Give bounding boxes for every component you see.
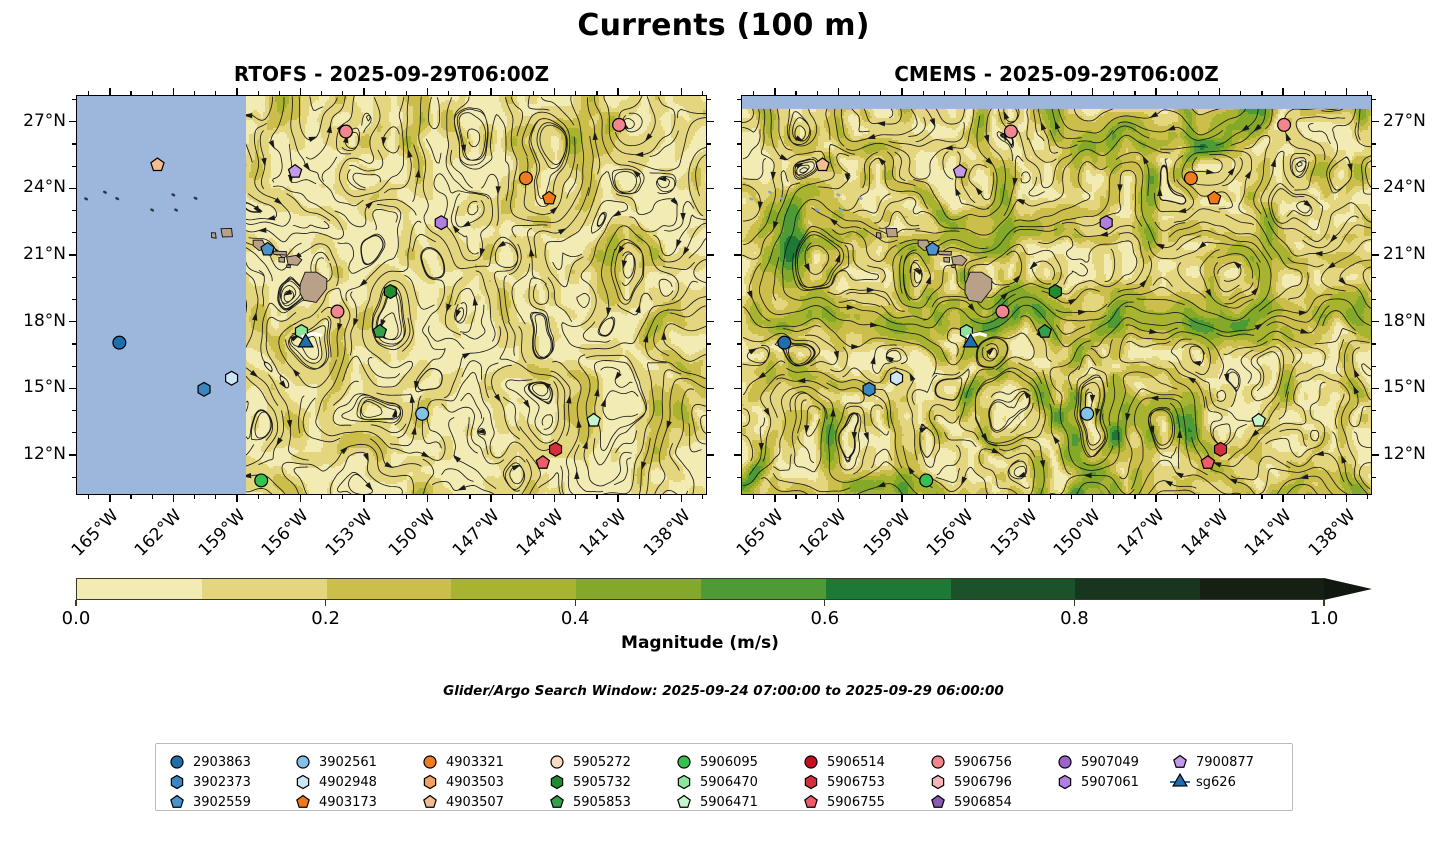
- legend-label: 5906753: [827, 775, 885, 790]
- axis-tick: [707, 321, 714, 323]
- map-marker[interactable]: [587, 414, 600, 426]
- map-marker[interactable]: [416, 407, 429, 420]
- map-marker[interactable]: [435, 216, 447, 230]
- legend-label: 5905732: [573, 775, 631, 790]
- legend-label: 3902559: [193, 795, 251, 810]
- axis-tick: [1372, 388, 1379, 390]
- axis-tick: [707, 143, 711, 144]
- map-panel-cmems[interactable]: [741, 95, 1372, 495]
- axis-tick: [554, 495, 556, 502]
- axis-tick: [707, 477, 711, 478]
- legend-marker-hexagon-icon: [800, 772, 822, 792]
- y-axis-tick-label: 21°N: [1383, 246, 1447, 263]
- axis-tick: [1092, 495, 1094, 502]
- x-axis-tick-label: 150°W: [1047, 507, 1104, 564]
- axis-tick: [69, 454, 76, 456]
- legend-label: 3902373: [193, 775, 251, 790]
- legend-entry[interactable]: 5905272: [546, 752, 631, 772]
- legend-label: 3902561: [319, 755, 377, 770]
- legend-label: 5906755: [827, 795, 885, 810]
- colorbar-band: [327, 579, 452, 599]
- legend-entry[interactable]: 3902373: [166, 772, 251, 792]
- legend-label: 2903863: [193, 755, 251, 770]
- axis-tick: [707, 388, 714, 390]
- axis-tick: [69, 254, 76, 256]
- map-marker[interactable]: [954, 165, 967, 177]
- axis-tick: [236, 88, 238, 95]
- axis-tick: [300, 495, 302, 502]
- legend-label: 4902948: [319, 775, 377, 790]
- colorbar-tick: [575, 600, 576, 606]
- axis-tick: [707, 454, 714, 456]
- axis-tick: [617, 88, 619, 95]
- map-marker[interactable]: [891, 371, 903, 385]
- legend-entry[interactable]: 5906756: [927, 752, 1012, 772]
- axis-tick: [512, 495, 513, 499]
- legend-marker-hexagon-icon: [673, 772, 695, 792]
- axis-tick: [734, 321, 741, 323]
- x-axis-tick-label: 162°W: [793, 507, 850, 564]
- legend-entry[interactable]: 4903507: [419, 792, 504, 812]
- legend-marker-hexagon-icon: [419, 772, 441, 792]
- axis-tick: [427, 495, 429, 502]
- legend-label: 7900877: [1196, 755, 1254, 770]
- legend-entry[interactable]: 5906755: [800, 792, 885, 812]
- map-marker[interactable]: [1081, 407, 1094, 420]
- legend-marker-hexagon-icon: [927, 772, 949, 792]
- axis-tick: [707, 432, 711, 433]
- axis-tick: [923, 495, 924, 499]
- y-axis-tick-label: 12°N: [2, 446, 66, 463]
- legend-marker-circle-icon: [419, 752, 441, 772]
- map-marker[interactable]: [926, 242, 939, 254]
- axis-tick: [469, 495, 470, 499]
- axis-tick: [1028, 88, 1030, 95]
- legend-marker-triangle-icon: [1169, 772, 1191, 792]
- axis-tick: [173, 495, 175, 502]
- axis-tick: [859, 495, 860, 499]
- axis-tick: [880, 495, 881, 499]
- axis-tick: [1304, 495, 1305, 499]
- x-axis-tick-label: 153°W: [984, 507, 1041, 564]
- legend-label: 5907049: [1081, 755, 1139, 770]
- axis-tick: [753, 495, 754, 499]
- legend-entry[interactable]: 5906095: [673, 752, 758, 772]
- axis-tick: [1198, 495, 1199, 499]
- legend-label: 5906854: [954, 795, 1012, 810]
- axis-tick: [986, 495, 987, 499]
- colorbar-tick-label: 1.0: [1279, 608, 1369, 629]
- axis-tick: [1372, 410, 1376, 411]
- axis-tick: [1155, 495, 1157, 502]
- axis-tick: [901, 495, 903, 502]
- legend-entry[interactable]: 5907061: [1054, 772, 1139, 792]
- map-marker[interactable]: [373, 325, 386, 337]
- x-axis-tick-label: 150°W: [382, 507, 439, 564]
- panel-title-rtofs: RTOFS - 2025-09-29T06:00Z: [76, 62, 707, 86]
- axis-tick: [707, 277, 711, 278]
- axis-tick: [1050, 495, 1051, 499]
- axis-tick: [130, 495, 131, 499]
- axis-tick: [1282, 88, 1284, 95]
- axis-tick: [944, 495, 945, 499]
- axis-tick: [1177, 495, 1178, 499]
- colorbar-extend-arrow: [1324, 578, 1372, 600]
- map-marker[interactable]: [1252, 414, 1265, 426]
- legend-entry[interactable]: 4903503: [419, 772, 504, 792]
- axis-tick: [1282, 495, 1284, 502]
- legend-marker-pentagon-icon: [927, 792, 949, 812]
- axis-tick: [734, 454, 741, 456]
- axis-tick: [1372, 232, 1376, 233]
- axis-tick: [681, 495, 683, 502]
- legend-label: 5906514: [827, 755, 885, 770]
- y-axis-tick-label: 24°N: [2, 179, 66, 196]
- axis-tick: [1372, 432, 1376, 433]
- axis-tick: [109, 88, 111, 95]
- map-marker[interactable]: [151, 158, 164, 170]
- legend-label: 5906095: [700, 755, 758, 770]
- axis-tick: [702, 495, 703, 499]
- map-marker[interactable]: [1100, 216, 1112, 230]
- axis-tick: [69, 121, 76, 123]
- legend-marker-pentagon-icon: [546, 792, 568, 812]
- axis-tick: [1372, 477, 1376, 478]
- colorbar-tick-label: 0.2: [281, 608, 371, 629]
- map-marker[interactable]: [1005, 125, 1018, 138]
- axis-tick: [707, 343, 711, 344]
- map-marker[interactable]: [543, 191, 556, 203]
- y-axis-tick-label: 18°N: [1383, 313, 1447, 330]
- legend-entry[interactable]: 4902948: [292, 772, 377, 792]
- map-marker[interactable]: [613, 118, 626, 131]
- axis-tick: [1219, 495, 1221, 502]
- y-axis-tick-label: 21°N: [2, 246, 66, 263]
- axis-tick: [448, 495, 449, 499]
- axis-tick: [774, 88, 776, 95]
- axis-tick: [707, 366, 711, 367]
- x-axis-tick-label: 162°W: [128, 507, 185, 564]
- legend-marker-pentagon-icon: [166, 792, 188, 812]
- legend-entry[interactable]: 5906753: [800, 772, 885, 792]
- legend-entry[interactable]: 4903321: [419, 752, 504, 772]
- axis-tick: [660, 495, 661, 499]
- marker-layer-rtofs: [77, 96, 707, 495]
- legend-marker-hexagon-icon: [166, 772, 188, 792]
- legend-marker-circle-icon: [927, 752, 949, 772]
- legend-entry[interactable]: 5906470: [673, 772, 758, 792]
- legend-entry[interactable]: 4903173: [292, 792, 377, 812]
- map-marker[interactable]: [816, 158, 829, 170]
- map-marker[interactable]: [1038, 325, 1051, 337]
- map-marker[interactable]: [261, 242, 274, 254]
- axis-tick: [1367, 495, 1368, 499]
- x-axis-tick-label: 147°W: [1111, 507, 1168, 564]
- axis-tick: [1372, 166, 1376, 167]
- colorbar: [76, 578, 1372, 600]
- legend-entry[interactable]: 5906854: [927, 792, 1012, 812]
- legend-entry[interactable]: 5906796: [927, 772, 1012, 792]
- axis-tick: [681, 88, 683, 95]
- x-axis-tick-label: 153°W: [319, 507, 376, 564]
- legend-entry[interactable]: 2903863: [166, 752, 251, 772]
- map-marker[interactable]: [331, 305, 344, 318]
- map-panel-rtofs[interactable]: [76, 95, 707, 495]
- map-marker[interactable]: [550, 442, 562, 456]
- map-marker[interactable]: [198, 382, 210, 396]
- legend-entry[interactable]: sg626: [1169, 772, 1236, 792]
- colorbar-band: [77, 579, 202, 599]
- legend-marker-pentagon-icon: [673, 792, 695, 812]
- axis-tick: [363, 88, 365, 95]
- colorbar-tick-label: 0.6: [780, 608, 870, 629]
- axis-tick: [1372, 366, 1376, 367]
- map-marker[interactable]: [1208, 191, 1221, 203]
- map-marker[interactable]: [1049, 285, 1061, 299]
- axis-tick: [236, 495, 238, 502]
- axis-tick: [1372, 277, 1376, 278]
- axis-tick: [1372, 99, 1376, 100]
- map-marker[interactable]: [1215, 442, 1227, 456]
- axis-tick: [795, 495, 796, 499]
- legend-marker-pentagon-icon: [292, 792, 314, 812]
- map-marker[interactable]: [1184, 172, 1197, 185]
- search-window-caption: Glider/Argo Search Window: 2025-09-24 07…: [0, 683, 1447, 699]
- axis-tick: [1113, 495, 1114, 499]
- axis-tick: [258, 495, 259, 499]
- x-axis-tick-label: 141°W: [1238, 507, 1295, 564]
- legend-entry[interactable]: 3902561: [292, 752, 377, 772]
- axis-tick: [109, 495, 111, 502]
- axis-tick: [1007, 495, 1008, 499]
- legend-entry[interactable]: 5905853: [546, 792, 631, 812]
- legend-marker-hexagon-icon: [292, 772, 314, 792]
- axis-tick: [194, 495, 195, 499]
- x-axis-tick-label: 165°W: [65, 507, 122, 564]
- axis-tick: [734, 254, 741, 256]
- axis-tick: [1372, 299, 1376, 300]
- legend-label: 5906756: [954, 755, 1012, 770]
- legend-entry[interactable]: 5905732: [546, 772, 631, 792]
- legend-label: 4903503: [446, 775, 504, 790]
- x-axis-tick-label: 156°W: [920, 507, 977, 564]
- legend-label: 5905853: [573, 795, 631, 810]
- map-marker[interactable]: [113, 336, 126, 349]
- map-marker[interactable]: [226, 371, 238, 385]
- map-marker[interactable]: [920, 474, 933, 487]
- float-legend[interactable]: 2903863390237339025593902561490294849031…: [155, 743, 1293, 811]
- y-axis-tick-label: 18°N: [2, 313, 66, 330]
- map-marker[interactable]: [996, 305, 1009, 318]
- axis-tick: [533, 495, 534, 499]
- legend-label: 4903507: [446, 795, 504, 810]
- map-marker[interactable]: [340, 125, 353, 138]
- axis-tick: [69, 388, 76, 390]
- axis-tick: [152, 495, 153, 499]
- colorbar-band: [1200, 579, 1325, 599]
- axis-tick: [1071, 495, 1072, 499]
- map-marker[interactable]: [255, 474, 268, 487]
- colorbar-tick-label: 0.0: [31, 608, 121, 629]
- legend-marker-circle-icon: [800, 752, 822, 772]
- axis-tick: [838, 88, 840, 95]
- colorbar-band: [576, 579, 701, 599]
- colorbar-band: [701, 579, 826, 599]
- axis-tick: [1372, 254, 1379, 256]
- map-marker[interactable]: [289, 165, 302, 177]
- axis-tick: [1346, 495, 1348, 502]
- map-marker[interactable]: [1201, 456, 1214, 468]
- legend-entry[interactable]: 7900877: [1169, 752, 1254, 772]
- axis-tick: [734, 121, 741, 123]
- legend-label: 5906796: [954, 775, 1012, 790]
- axis-tick: [1092, 88, 1094, 95]
- axis-tick: [707, 99, 711, 100]
- axis-tick: [69, 321, 76, 323]
- axis-tick: [1372, 321, 1379, 323]
- axis-tick: [1372, 188, 1379, 190]
- map-marker[interactable]: [384, 285, 396, 299]
- x-axis-tick-label: 165°W: [730, 507, 787, 564]
- axis-tick: [300, 88, 302, 95]
- y-axis-tick-label: 15°N: [2, 379, 66, 396]
- colorbar-tick: [824, 600, 825, 606]
- legend-entry[interactable]: 5906471: [673, 792, 758, 812]
- legend-entry[interactable]: 3902559: [166, 792, 251, 812]
- axis-tick: [965, 495, 967, 502]
- legend-marker-circle-icon: [546, 752, 568, 772]
- legend-label: 5906471: [700, 795, 758, 810]
- axis-tick: [707, 166, 711, 167]
- axis-tick: [1372, 143, 1376, 144]
- axis-tick: [1346, 88, 1348, 95]
- legend-label: 5907061: [1081, 775, 1139, 790]
- axis-tick: [363, 495, 365, 502]
- x-axis-tick-label: 141°W: [573, 507, 630, 564]
- axis-tick: [575, 495, 576, 499]
- legend-label: sg626: [1196, 775, 1236, 790]
- axis-tick: [596, 495, 597, 499]
- axis-tick: [490, 495, 492, 502]
- axis-tick: [617, 495, 619, 502]
- legend-entry[interactable]: 5906514: [800, 752, 885, 772]
- axis-tick: [734, 188, 741, 190]
- x-axis-tick-label: 144°W: [509, 507, 566, 564]
- y-axis-tick-label: 12°N: [1383, 446, 1447, 463]
- legend-marker-circle-icon: [1054, 752, 1076, 772]
- axis-tick: [490, 88, 492, 95]
- map-marker[interactable]: [536, 456, 549, 468]
- axis-tick: [734, 388, 741, 390]
- axis-tick: [707, 299, 711, 300]
- colorbar-gradient: [76, 578, 1324, 600]
- axis-tick: [774, 495, 776, 502]
- legend-marker-hexagon-icon: [546, 772, 568, 792]
- x-axis-tick-label: 138°W: [1301, 507, 1358, 564]
- legend-marker-circle-icon: [292, 752, 314, 772]
- axis-tick: [1325, 495, 1326, 499]
- colorbar-tick: [1074, 600, 1075, 606]
- x-axis-tick-label: 159°W: [192, 507, 249, 564]
- map-marker[interactable]: [1278, 118, 1291, 131]
- legend-label: 4903173: [319, 795, 377, 810]
- legend-marker-circle-icon: [673, 752, 695, 772]
- axis-tick: [427, 88, 429, 95]
- axis-tick: [1372, 121, 1379, 123]
- colorbar-band: [451, 579, 576, 599]
- axis-tick: [1155, 88, 1157, 95]
- axis-tick: [817, 495, 818, 499]
- marker-layer-cmems: [742, 96, 1372, 495]
- axis-tick: [1028, 495, 1030, 502]
- colorbar-label: Magnitude (m/s): [76, 633, 1324, 653]
- y-axis-tick-label: 27°N: [2, 113, 66, 130]
- x-axis-tick-label: 147°W: [446, 507, 503, 564]
- axis-tick: [639, 495, 640, 499]
- colorbar-tick-label: 0.4: [530, 608, 620, 629]
- axis-tick: [385, 495, 386, 499]
- colorbar-band: [202, 579, 327, 599]
- axis-tick: [707, 254, 714, 256]
- colorbar-band: [951, 579, 1076, 599]
- axis-tick: [554, 88, 556, 95]
- map-marker[interactable]: [863, 382, 875, 396]
- axis-tick: [406, 495, 407, 499]
- x-axis-tick-label: 156°W: [255, 507, 312, 564]
- map-marker[interactable]: [519, 172, 532, 185]
- axis-tick: [838, 495, 840, 502]
- axis-tick: [215, 495, 216, 499]
- legend-marker-pentagon-icon: [1169, 752, 1191, 772]
- axis-tick: [1372, 343, 1376, 344]
- axis-tick: [279, 495, 280, 499]
- map-marker[interactable]: [778, 336, 791, 349]
- y-axis-tick-label: 27°N: [1383, 113, 1447, 130]
- axis-tick: [707, 210, 711, 211]
- axis-tick: [1261, 495, 1262, 499]
- axis-tick: [342, 495, 343, 499]
- axis-tick: [1219, 88, 1221, 95]
- colorbar-band: [826, 579, 951, 599]
- x-axis-tick-label: 144°W: [1174, 507, 1231, 564]
- axis-tick: [1240, 495, 1241, 499]
- y-axis-tick-label: 15°N: [1383, 379, 1447, 396]
- legend-entry[interactable]: 5907049: [1054, 752, 1139, 772]
- axis-tick: [321, 495, 322, 499]
- y-axis-tick-label: 24°N: [1383, 179, 1447, 196]
- axis-tick: [1372, 454, 1379, 456]
- legend-label: 5905272: [573, 755, 631, 770]
- panel-title-cmems: CMEMS - 2025-09-29T06:00Z: [741, 62, 1372, 86]
- axis-tick: [1372, 210, 1376, 211]
- x-axis-tick-label: 138°W: [636, 507, 693, 564]
- legend-marker-circle-icon: [166, 752, 188, 772]
- colorbar-band: [1075, 579, 1200, 599]
- axis-tick: [707, 188, 714, 190]
- legend-marker-pentagon-icon: [419, 792, 441, 812]
- axis-tick: [707, 410, 711, 411]
- axis-tick: [707, 232, 711, 233]
- x-axis-tick-label: 159°W: [857, 507, 914, 564]
- colorbar-tick-label: 0.8: [1029, 608, 1119, 629]
- axis-tick: [1134, 495, 1135, 499]
- colorbar-tick: [75, 600, 76, 606]
- axis-tick: [88, 495, 89, 499]
- axis-tick: [69, 188, 76, 190]
- legend-marker-hexagon-icon: [1054, 772, 1076, 792]
- legend-label: 4903321: [446, 755, 504, 770]
- colorbar-tick: [1323, 600, 1324, 606]
